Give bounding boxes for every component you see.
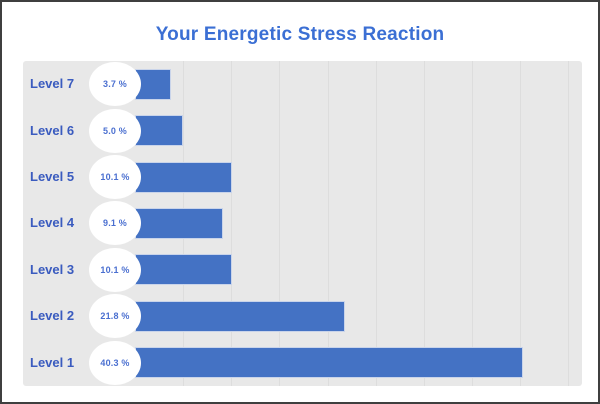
value-badge: 10.1 % xyxy=(89,248,141,292)
bar-row: Level 510.1 % xyxy=(23,154,582,200)
bar-row: Level 140.3 % xyxy=(23,340,582,386)
bar xyxy=(135,254,232,285)
category-label: Level 2 xyxy=(30,309,90,322)
chart-title: Your Energetic Stress Reaction xyxy=(2,24,598,46)
plot-area: Level 73.7 %Level 65.0 %Level 510.1 %Lev… xyxy=(23,61,582,386)
bar xyxy=(135,347,523,378)
value-badge: 5.0 % xyxy=(89,109,141,153)
category-label: Level 1 xyxy=(30,356,90,369)
bar-row: Level 73.7 % xyxy=(23,61,582,107)
bar-row: Level 310.1 % xyxy=(23,247,582,293)
value-badge: 21.8 % xyxy=(89,294,141,338)
chart-frame: Your Energetic Stress Reaction Level 73.… xyxy=(0,0,600,404)
value-badge: 9.1 % xyxy=(89,201,141,245)
bar-row: Level 221.8 % xyxy=(23,293,582,339)
bar xyxy=(135,301,345,332)
value-badge: 40.3 % xyxy=(89,341,141,385)
bar-row: Level 65.0 % xyxy=(23,107,582,153)
bar-row: Level 49.1 % xyxy=(23,200,582,246)
value-badge: 10.1 % xyxy=(89,155,141,199)
category-label: Level 6 xyxy=(30,124,90,137)
category-label: Level 4 xyxy=(30,216,90,229)
bar xyxy=(135,208,223,239)
bar xyxy=(135,162,232,193)
category-label: Level 3 xyxy=(30,263,90,276)
bar xyxy=(135,115,183,146)
category-label: Level 7 xyxy=(30,77,90,90)
category-label: Level 5 xyxy=(30,170,90,183)
bar-rows: Level 73.7 %Level 65.0 %Level 510.1 %Lev… xyxy=(23,61,582,386)
value-badge: 3.7 % xyxy=(89,62,141,106)
